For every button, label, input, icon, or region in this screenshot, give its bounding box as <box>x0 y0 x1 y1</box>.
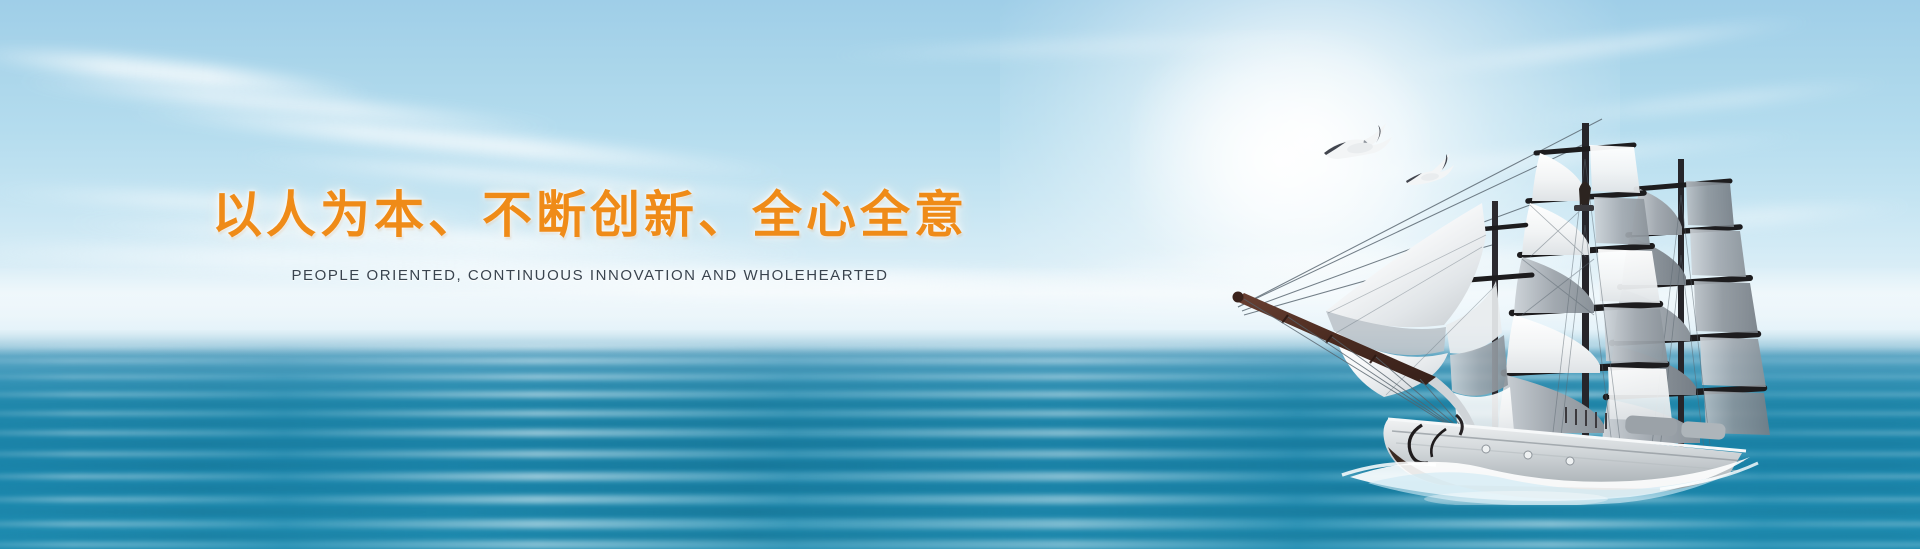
sail <box>1598 249 1660 303</box>
banner-text-block: 以人为本、不断创新、全心全意 PEOPLE ORIENTED, CONTINUO… <box>0 186 1180 284</box>
sail <box>1532 153 1586 201</box>
sail <box>1700 337 1766 387</box>
jib-sail <box>1326 203 1486 327</box>
banner-subtitle: PEOPLE ORIENTED, CONTINUOUS INNOVATION A… <box>0 267 1180 284</box>
hero-banner: 以人为本、不断创新、全心全意 PEOPLE ORIENTED, CONTINUO… <box>0 0 1920 549</box>
sail <box>1604 307 1668 363</box>
seagulls-group <box>1320 115 1540 215</box>
lookout-figure <box>1579 182 1591 205</box>
seagull-icon <box>1406 153 1454 185</box>
cloud-wisp <box>0 40 380 106</box>
cloud-wisp <box>820 31 1340 63</box>
sail <box>1686 181 1734 227</box>
wave-foam <box>0 540 1920 549</box>
wave-trough <box>0 506 1920 518</box>
cloud-wisp <box>10 72 569 138</box>
sail <box>1690 229 1746 277</box>
cloud-wisp <box>121 99 800 184</box>
seagull-icon <box>1324 123 1392 159</box>
wave-trough <box>0 530 1920 542</box>
sail <box>1594 197 1650 245</box>
wave-foam <box>0 519 1920 529</box>
banner-headline: 以人为本、不断创新、全心全意 <box>0 186 1180 245</box>
sail <box>1608 367 1672 421</box>
cloud-wisp <box>1391 14 1819 79</box>
sail <box>1694 281 1758 333</box>
sail <box>1590 145 1640 193</box>
